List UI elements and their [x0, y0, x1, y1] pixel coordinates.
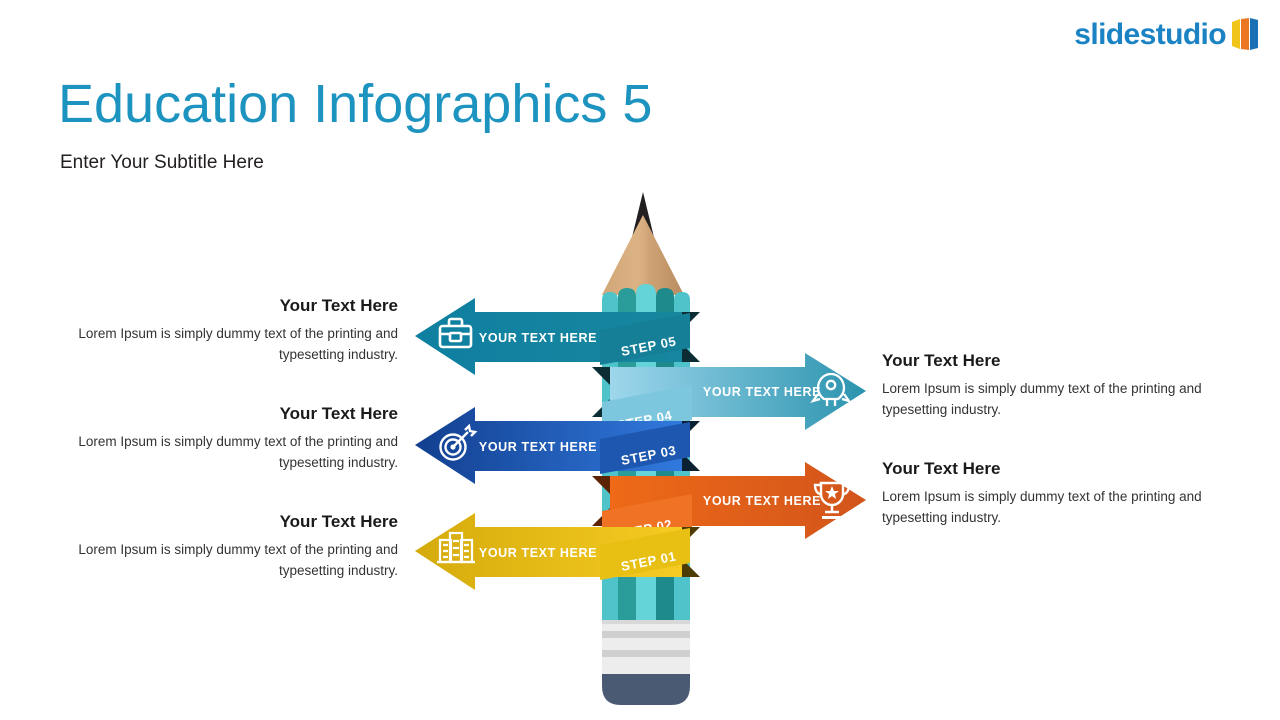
brand-mark-icon	[1232, 18, 1262, 52]
text-heading: Your Text Here	[68, 404, 398, 424]
trophy-icon	[815, 483, 849, 519]
ribbon-fold-shadow	[682, 527, 700, 545]
step-ribbon-step-01: STEP 01	[600, 528, 690, 580]
text-heading: Your Text Here	[882, 459, 1212, 479]
pencil-barrel	[602, 284, 690, 620]
target-icon	[441, 426, 476, 460]
pencil-eraser	[602, 674, 690, 705]
brand-logo[interactable]: slidestudio	[1074, 18, 1262, 52]
text-body: Lorem Ipsum is simply dummy text of the …	[882, 379, 1212, 421]
slide-canvas: slidestudio Education Infographics 5 Ent…	[0, 0, 1280, 720]
text-body: Lorem Ipsum is simply dummy text of the …	[68, 324, 398, 366]
arrow-label: YOUR TEXT HERE	[703, 385, 821, 399]
pencil-wood-cone	[602, 215, 684, 295]
step-arrow-step-05[interactable]: YOUR TEXT HERE	[415, 298, 682, 375]
ribbon-fold-shadow	[682, 453, 700, 471]
step-label: STEP 05	[620, 334, 678, 359]
ribbon-fold-shadow	[682, 559, 700, 577]
step-arrow-step-03[interactable]: YOUR TEXT HERE	[415, 407, 682, 484]
ribbon-fold-shadow	[592, 508, 610, 526]
text-block-step-03: Your Text Here Lorem Ipsum is simply dum…	[68, 404, 398, 474]
step-arrow-step-02[interactable]: YOUR TEXT HERE	[610, 462, 866, 539]
page-title: Education Infographics 5	[58, 76, 652, 133]
step-label: STEP 01	[620, 549, 678, 574]
ribbon-fold-shadow	[682, 312, 700, 330]
pencil-graphite-tip	[626, 192, 660, 262]
text-body: Lorem Ipsum is simply dummy text of the …	[882, 487, 1212, 529]
step-label: STEP 03	[620, 443, 678, 468]
school-building-icon	[437, 533, 475, 562]
step-label: STEP 04	[616, 408, 674, 433]
text-body: Lorem Ipsum is simply dummy text of the …	[68, 540, 398, 582]
text-block-step-02: Your Text Here Lorem Ipsum is simply dum…	[882, 459, 1212, 529]
text-block-step-04: Your Text Here Lorem Ipsum is simply dum…	[882, 351, 1212, 421]
text-block-step-05: Your Text Here Lorem Ipsum is simply dum…	[68, 296, 398, 366]
arrow-label: YOUR TEXT HERE	[479, 440, 597, 454]
pencil-graphic	[602, 192, 690, 705]
text-body: Lorem Ipsum is simply dummy text of the …	[68, 432, 398, 474]
step-label: STEP 02	[616, 517, 674, 542]
rocket-icon	[813, 374, 849, 406]
text-heading: Your Text Here	[68, 296, 398, 316]
brand-wordmark: slidestudio	[1074, 20, 1226, 50]
text-block-step-01: Your Text Here Lorem Ipsum is simply dum…	[68, 512, 398, 582]
text-heading: Your Text Here	[882, 351, 1212, 371]
text-heading: Your Text Here	[68, 512, 398, 532]
step-arrow-step-01[interactable]: YOUR TEXT HERE	[415, 513, 682, 590]
step-arrow-step-04[interactable]: YOUR TEXT HERE	[610, 353, 866, 430]
ribbon-fold-shadow	[682, 344, 700, 362]
page-subtitle: Enter Your Subtitle Here	[60, 152, 264, 174]
ribbon-fold-shadow	[592, 476, 610, 494]
step-ribbon-step-05: STEP 05	[600, 313, 690, 365]
arrow-label: YOUR TEXT HERE	[703, 494, 821, 508]
step-ribbon-step-04: STEP 04	[602, 385, 692, 437]
ribbon-fold-shadow	[682, 421, 700, 439]
ribbon-fold-shadow	[592, 399, 610, 417]
briefcase-icon	[440, 319, 471, 347]
step-ribbon-step-02: STEP 02	[602, 494, 692, 546]
ribbon-fold-shadow	[592, 367, 610, 385]
pencil-ferrule	[602, 620, 690, 674]
arrow-label: YOUR TEXT HERE	[479, 331, 597, 345]
step-ribbon-step-03: STEP 03	[600, 422, 690, 474]
arrow-label: YOUR TEXT HERE	[479, 546, 597, 560]
